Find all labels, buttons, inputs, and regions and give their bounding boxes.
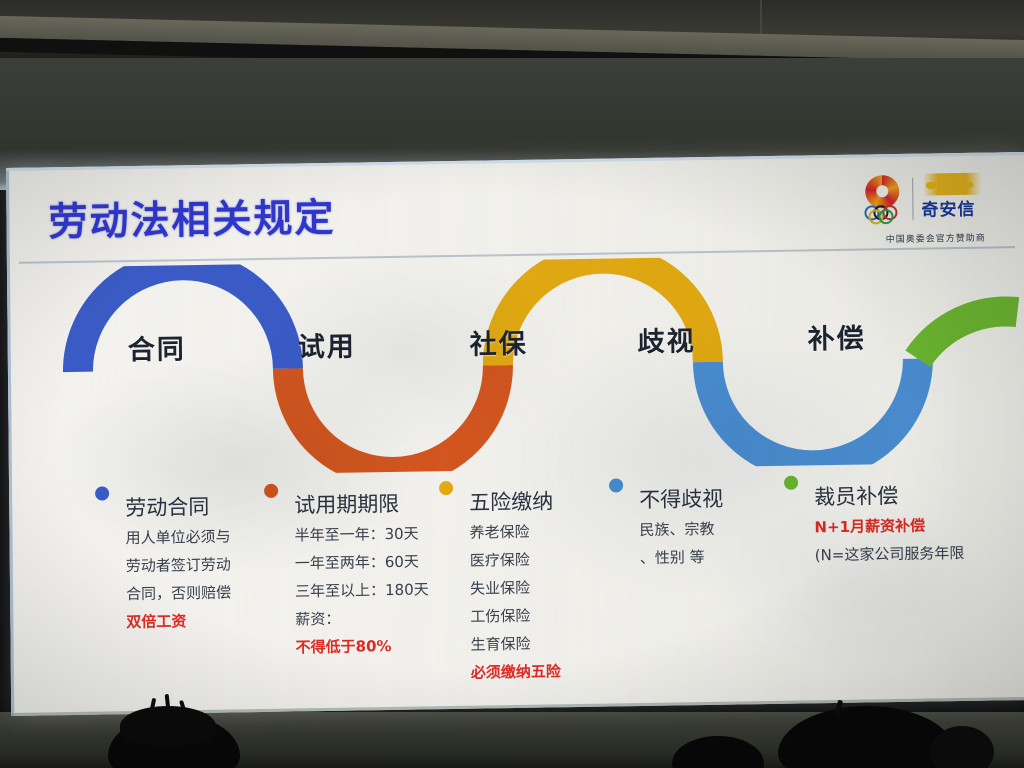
column-line: 薪资： (295, 603, 429, 633)
arc-node-4 (917, 311, 1017, 358)
column-heading: 劳动合同 (125, 491, 209, 522)
bullet-dot (264, 484, 278, 498)
arc-node-3 (708, 359, 919, 467)
detail-columns: 劳动合同用人单位必须与劳动者签订劳动合同，否则赔偿双倍工资试用期期限半年至一年：… (9, 464, 1024, 710)
column-line: 失业保险 (470, 573, 560, 602)
column-line: 医疗保险 (470, 545, 560, 574)
projection-screen: 劳动法相关规定 奇安信 中国奥委会官方赞助商 (6, 152, 1024, 716)
arc-node-1 (288, 365, 499, 473)
column-line: 民族、宗教 (639, 515, 714, 544)
node-label-3: 歧视 (637, 319, 695, 359)
column-line: 养老保险 (469, 517, 559, 546)
node-label-0: 合同 (128, 327, 186, 367)
rings-icon (864, 205, 900, 220)
olympic-swirl-icon (865, 175, 899, 209)
column-line-emphasis: 双倍工资 (126, 607, 231, 637)
column-line: 工伤保险 (470, 601, 560, 630)
node-label-1: 试用 (298, 325, 356, 365)
slide-header: 劳动法相关规定 奇安信 中国奥委会官方赞助商 (6, 152, 1024, 264)
node-label-4: 补偿 (807, 317, 865, 357)
qianxin-name: 奇安信 (921, 195, 975, 221)
column-lines: 半年至一年：30天一年至两年：60天三年至以上：180天薪资：不得低于80% (294, 519, 429, 661)
column-line-emphasis: 不得低于80% (295, 631, 429, 661)
column-lines: N+1月薪资补偿(N=这家公司服务年限 (814, 511, 964, 569)
column-heading: 不得歧视 (639, 483, 723, 514)
column-lines: 养老保险医疗保险失业保险工伤保险生育保险必须缴纳五险 (469, 517, 561, 686)
column-lines: 民族、宗教、性别 等 (639, 515, 715, 572)
column-heading: 裁员补偿 (814, 480, 898, 511)
brand-row: 奇安信 (860, 173, 983, 225)
column-line: 三年至以上：180天 (295, 575, 429, 605)
qianxin-logo: 奇安信 (921, 173, 983, 224)
node-label-2: 社保 (470, 322, 528, 362)
column-lines: 用人单位必须与劳动者签订劳动合同，否则赔偿双倍工资 (125, 523, 231, 637)
column-line: 、性别 等 (640, 543, 715, 572)
column-line: 半年至一年：30天 (294, 519, 428, 549)
column-heading: 五险缴纳 (469, 485, 553, 516)
bullet-dot (439, 481, 453, 495)
olympic-rings-logo (860, 175, 904, 224)
column-line-emphasis: 必须缴纳五险 (471, 657, 561, 686)
bullet-dot (95, 486, 109, 500)
brand-caption: 中国奥委会官方赞助商 (861, 230, 1011, 245)
column-heading: 试用期期限 (294, 488, 399, 520)
column-line: 一年至两年：60天 (295, 547, 429, 577)
bullet-dot (784, 476, 798, 490)
bullet-dot (609, 478, 623, 492)
brand-lockup: 奇安信 中国奥委会官方赞助商 (860, 172, 1011, 246)
column-line: 劳动者签订劳动 (126, 551, 231, 581)
column-line: (N=这家公司服务年限 (815, 539, 965, 569)
column-line-emphasis: N+1月薪资补偿 (814, 511, 964, 541)
column-line: 生育保险 (470, 629, 560, 658)
photo-of-projected-slide: 劳动法相关规定 奇安信 中国奥委会官方赞助商 (0, 0, 1024, 768)
qianxin-mark-icon (923, 173, 981, 196)
column-line: 合同，否则赔偿 (126, 579, 231, 609)
brand-divider (912, 178, 913, 220)
process-wave-graphic: 合同 试用 社保 歧视 补偿 (7, 252, 1024, 478)
column-line: 用人单位必须与 (125, 523, 230, 553)
page-title: 劳动法相关规定 (48, 187, 336, 248)
